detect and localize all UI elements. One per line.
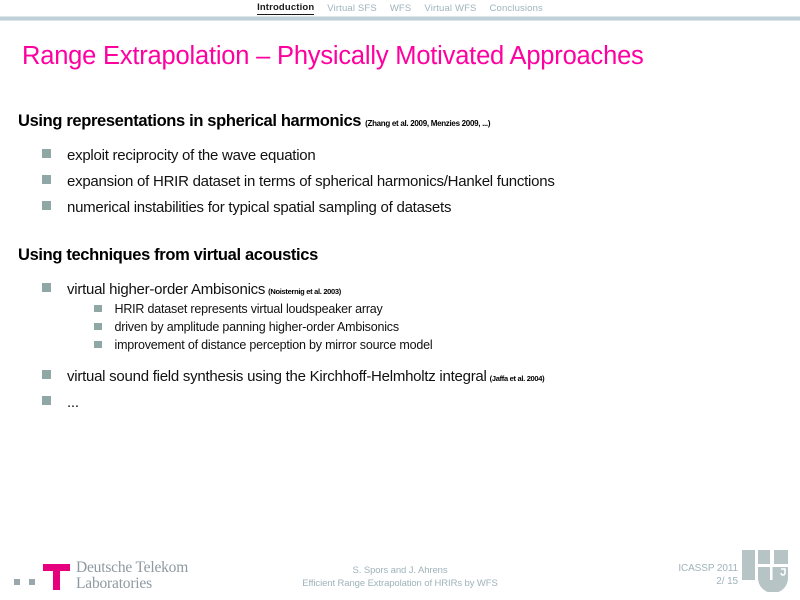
section-heading-spherical-harmonics: Using representations in spherical harmo… (18, 112, 800, 131)
list-item-label: numerical instabilities for typical spat… (67, 199, 451, 216)
footer-conference: ICASSP 2011 (678, 562, 738, 575)
slide-title: Range Extrapolation – Physically Motivat… (22, 42, 644, 71)
bullet-list-level1-section2: virtual higher-order Ambisonics(Noistern… (0, 281, 800, 411)
slide-navigation-bar: Introduction Virtual SFS WFS Virtual WFS… (0, 0, 800, 16)
list-item: ... (42, 394, 800, 411)
list-item-label: virtual sound field synthesis using the … (67, 368, 487, 385)
nav-item-virtual-wfs[interactable]: Virtual WFS (424, 3, 476, 14)
list-item: improvement of distance perception by mi… (94, 338, 800, 352)
footer-right-text: ICASSP 2011 2/ 15 (678, 562, 738, 588)
bullet-square-icon (94, 341, 102, 349)
list-item: numerical instabilities for typical spat… (42, 199, 800, 216)
bullet-square-icon (42, 283, 51, 292)
list-item: HRIR dataset represents virtual loudspea… (94, 302, 800, 316)
list-item-label: ... (67, 394, 79, 411)
list-item-label: driven by amplitude panning higher-order… (115, 320, 399, 334)
list-item-label: HRIR dataset represents virtual loudspea… (115, 302, 383, 316)
list-item: expansion of HRIR dataset in terms of sp… (42, 173, 800, 190)
section-citation: (Zhang et al. 2009, Menzies 2009, ...) (365, 119, 490, 128)
bullet-square-icon (42, 175, 51, 184)
list-item-label: expansion of HRIR dataset in terms of sp… (67, 173, 555, 190)
bullet-square-icon (42, 201, 51, 210)
nav-item-wfs[interactable]: WFS (390, 3, 412, 14)
list-item-label: virtual higher-order Ambisonics (67, 281, 265, 298)
slide-body: Using representations in spherical harmo… (0, 112, 800, 411)
bullet-square-icon (94, 323, 102, 331)
list-item-label: improvement of distance perception by mi… (115, 338, 433, 352)
list-item: virtual sound field synthesis using the … (42, 368, 800, 385)
section-heading-text: Using representations in spherical harmo… (18, 112, 361, 130)
footer-page-number: 2/ 15 (678, 575, 738, 588)
nav-item-conclusions[interactable]: Conclusions (490, 3, 543, 14)
nav-item-introduction[interactable]: Introduction (257, 2, 314, 15)
bullet-list-level1-section1: exploit reciprocity of the wave equation… (0, 147, 800, 216)
bullet-square-icon (94, 305, 102, 313)
bullet-square-icon (42, 396, 51, 405)
header-divider (0, 16, 800, 21)
tu-berlin-logo-icon (740, 548, 792, 592)
list-item: driven by amplitude panning higher-order… (94, 320, 800, 334)
slide-footer: Deutsche Telekom Laboratories S. Spors a… (0, 540, 800, 600)
list-item-citation: (Jaffa et al. 2004) (490, 374, 545, 383)
section-heading-virtual-acoustics: Using techniques from virtual acoustics (18, 246, 800, 265)
bullet-square-icon (42, 370, 51, 379)
bullet-list-level2: HRIR dataset represents virtual loudspea… (0, 302, 800, 352)
list-item: virtual higher-order Ambisonics(Noistern… (42, 281, 800, 298)
nav-item-virtual-sfs[interactable]: Virtual SFS (327, 3, 377, 14)
list-item-citation: (Noisternig et al. 2003) (268, 287, 341, 296)
list-item-label: exploit reciprocity of the wave equation (67, 147, 315, 164)
bullet-square-icon (42, 149, 51, 158)
list-item: exploit reciprocity of the wave equation (42, 147, 800, 164)
section-heading-text: Using techniques from virtual acoustics (18, 246, 318, 264)
